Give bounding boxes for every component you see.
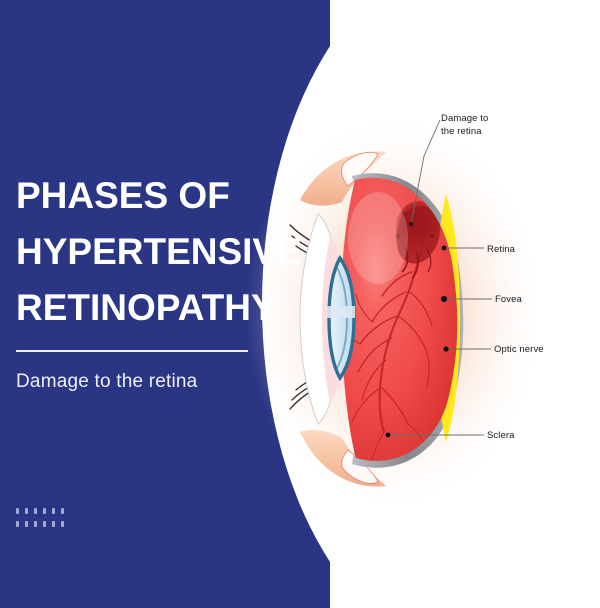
page-title-line-3: RETINOPATHY — [16, 280, 276, 336]
optic-nerve — [435, 194, 460, 442]
label-fovea: Fovea — [495, 294, 522, 306]
label-damage-line-1: Damage to — [441, 113, 511, 126]
page-title-line-2: HYPERTENSIVE — [16, 224, 276, 280]
grid-dot — [43, 508, 46, 514]
dot-optic-nerve — [443, 346, 448, 351]
grid-dot — [34, 521, 37, 527]
dot-fovea — [441, 296, 447, 302]
page-subtitle: Damage to the retina — [16, 371, 276, 393]
eyelid-upper-highlight — [342, 152, 378, 186]
label-damage-line-2: the retina — [441, 126, 511, 139]
cornea — [329, 258, 354, 378]
title-block: PHASES OF HYPERTENSIVE RETINOPATHY Damag… — [16, 168, 276, 393]
label-damage-to-the-retina: Damage to the retina — [441, 113, 511, 138]
eyelid-lower-highlight — [342, 450, 378, 484]
leader-damage — [411, 120, 440, 224]
retinal-blood-vessels — [343, 236, 432, 460]
dot-retina — [442, 246, 447, 251]
dot-damage — [409, 222, 413, 226]
infographic-poster: Damage to the retina Retina Fovea Optic … — [0, 0, 600, 608]
grid-dot — [34, 508, 37, 514]
sclera — [352, 173, 463, 468]
leader-lines — [388, 120, 492, 435]
grid-dot — [25, 508, 28, 514]
label-optic-nerve: Optic nerve — [494, 344, 544, 356]
grid-dot — [16, 521, 19, 527]
title-divider — [16, 350, 248, 352]
grid-dot — [43, 521, 46, 527]
iris — [336, 266, 347, 370]
grid-dot — [52, 508, 55, 514]
grid-dot — [61, 521, 64, 527]
retina-globe — [341, 178, 457, 461]
globe-highlight — [348, 192, 408, 284]
leader-dots — [386, 222, 449, 438]
grid-dot — [61, 508, 64, 514]
hemorrhage — [396, 201, 442, 278]
label-sclera: Sclera — [487, 430, 515, 442]
decorative-dot-grid — [16, 508, 70, 534]
grid-dot — [25, 521, 28, 527]
pupil-band — [327, 306, 355, 318]
dot-sclera — [386, 433, 391, 438]
grid-dot — [52, 521, 55, 527]
grid-dot — [16, 508, 19, 514]
label-retina: Retina — [487, 244, 515, 256]
page-title-line-1: PHASES OF — [16, 168, 276, 224]
